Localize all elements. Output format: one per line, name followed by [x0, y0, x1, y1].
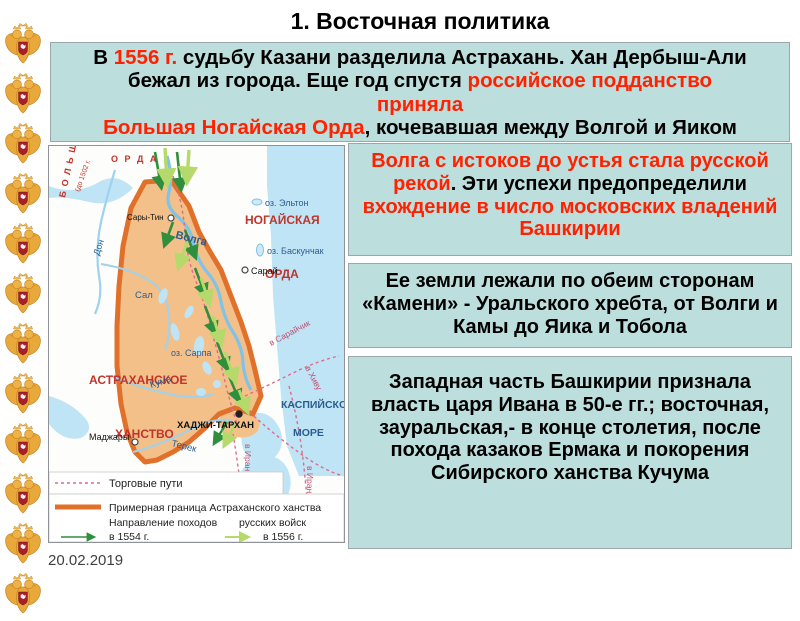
double-headed-eagle-icon [4, 522, 42, 566]
bashkiria-text-box: Западная часть Башкирии признала власть … [348, 356, 792, 549]
map-label-oz-baskunchak: оз. Баскунчак [267, 246, 324, 256]
intro-line-2: бежал из города. Еще год спустя российск… [57, 69, 783, 92]
lands-text-box: Ее земли лежали по обеим сторонам «Камен… [348, 263, 792, 348]
map-label-oz-sarpa: оз. Сарпа [171, 348, 212, 358]
historical-map: Б О Л Ь Ш А Я О Р Д А (до 1502 г. НОГАЙС… [48, 145, 345, 543]
lands-line-2: «Камени» - Уральского хребта, от [362, 293, 695, 315]
map-label-astrakhanskoe: АСТРАХАНСКОЕ [89, 373, 187, 387]
legend-border-label: Примерная граница Астраханского ханства [109, 502, 321, 514]
double-headed-eagle-icon [4, 272, 42, 316]
map-label-sal: Сал [135, 290, 153, 301]
map-label-saray: Сарай [251, 266, 278, 276]
double-headed-eagle-icon [4, 572, 42, 616]
double-headed-eagle-icon [4, 472, 42, 516]
legend-campaigns-label-b: русских войск [239, 517, 306, 529]
slide-date: 20.02.2019 [48, 552, 123, 569]
volga-seg-4: предопределили [577, 173, 747, 195]
intro-l4-b: Большая Ногайская Орда [103, 116, 364, 139]
intro-l2-a: бежал из города. Еще год спустя [128, 69, 468, 92]
legend-trade-routes-label: Торговые пути [109, 478, 183, 490]
map-label-sary-tin: Сары-Тин [127, 213, 164, 222]
emblem-border-strip [0, 0, 46, 600]
volga-seg-3: . Эти успехи [451, 173, 572, 195]
double-headed-eagle-icon [4, 122, 42, 166]
volga-text-box: Волга с истоков до устья стала русской р… [348, 143, 792, 256]
volga-seg-1: Волга с истоков до устья стала [371, 150, 684, 172]
double-headed-eagle-icon [4, 172, 42, 216]
lands-line-1: Ее земли лежали по обеим сторонам [386, 270, 755, 292]
intro-line-4: Большая Ногайская Орда, кочевавшая между… [57, 116, 783, 139]
legend-campaigns-label-a: Направление походов [109, 517, 218, 529]
map-label-v-iran-2: в Иран [305, 466, 315, 493]
legend-year-1554: в 1554 г. [109, 531, 149, 542]
map-label-khadzhi-tarkhan: ХАДЖИ-ТАРХАН [177, 420, 254, 431]
volga-seg-5: вхождение в число [363, 196, 554, 218]
map-label-madzhary: Маджары [89, 432, 129, 442]
intro-year-1556: 1556 г. [114, 46, 177, 69]
double-headed-eagle-icon [4, 72, 42, 116]
intro-line-1: В 1556 г. судьбу Казани разделила Астрах… [57, 46, 783, 69]
map-label-more: МОРЕ [293, 427, 324, 439]
intro-line-3: приняла [57, 93, 783, 116]
double-headed-eagle-icon [4, 222, 42, 266]
double-headed-eagle-icon [4, 422, 42, 466]
bashkiria-line-1: Западная часть Башкирии признала [389, 371, 751, 393]
map-label-oz-elton: оз. Эльтон [265, 198, 308, 208]
bashkiria-line-2: власть царя Ивана в 50-е гг.; [371, 394, 655, 416]
bashkiria-line-6: ханства Кучума [554, 462, 709, 484]
intro-l2-b: российское подданство [468, 69, 713, 92]
map-label-v-iran-1: в Иран [243, 444, 253, 471]
intro-l1-a: В [93, 46, 114, 69]
map-label-kaspiyskoe: КАСПИЙСКОЕ [281, 398, 344, 411]
page-title: 1. Восточная политика [50, 8, 790, 35]
legend-year-1556: в 1556 г. [263, 531, 303, 542]
intro-l1-c: судьбу Казани разделила Астрахань. Хан Д… [177, 46, 747, 69]
double-headed-eagle-icon [4, 322, 42, 366]
volga-seg-6: московских владений Башкирии [519, 196, 777, 241]
double-headed-eagle-icon [4, 22, 42, 66]
double-headed-eagle-icon [4, 372, 42, 416]
intro-l4-c: , кочевавшая между Волгой и Яиком [365, 116, 737, 139]
intro-text-box: В 1556 г. судьбу Казани разделила Астрах… [50, 42, 790, 142]
map-label-nogayskaya: НОГАЙСКАЯ [245, 212, 320, 227]
map-label-orda-left: О Р Д А [111, 154, 158, 164]
